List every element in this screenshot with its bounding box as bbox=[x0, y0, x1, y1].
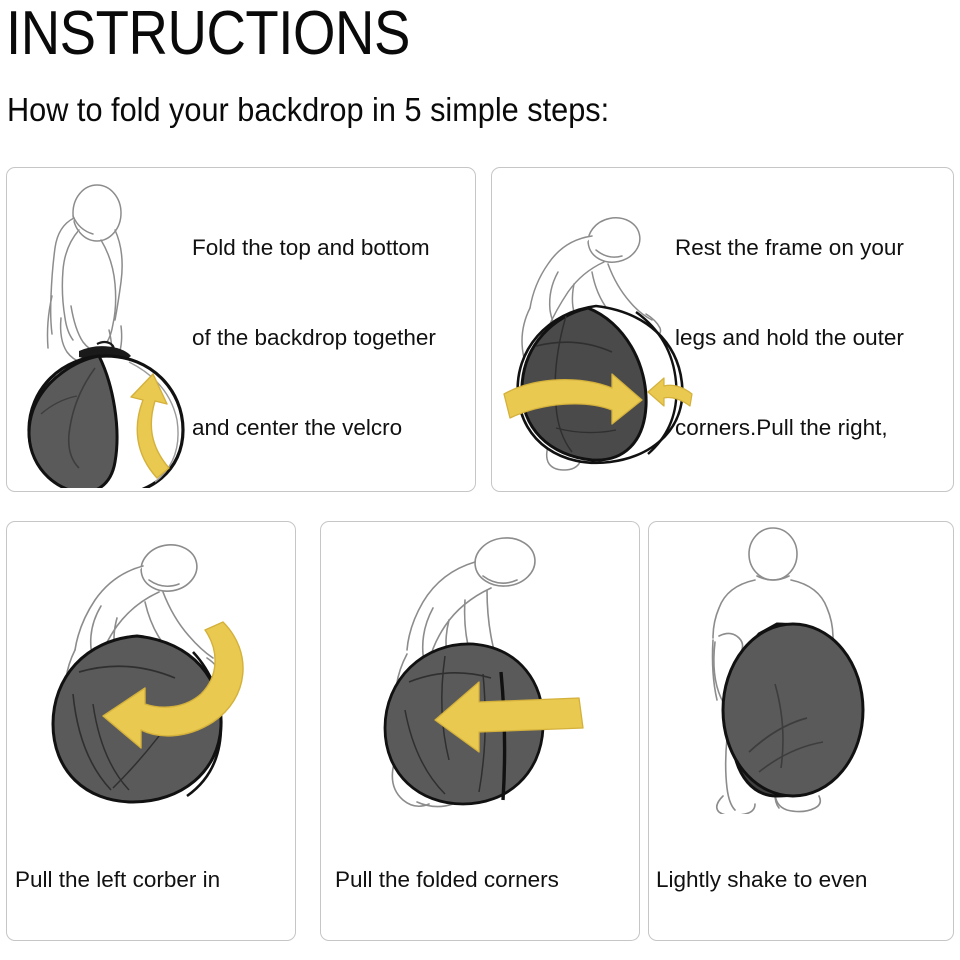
step-5-illustration bbox=[657, 524, 942, 814]
step-3-line-1: Pull the left corber in bbox=[15, 857, 296, 902]
step-2-text: Rest the frame on your legs and hold the… bbox=[675, 180, 954, 492]
step-1-line-3: and center the velcro bbox=[192, 405, 476, 450]
step-4-illustration bbox=[333, 524, 629, 816]
step-2-line-3: corners.Pull the right, bbox=[675, 405, 954, 450]
step-1-line-1: Fold the top and bottom bbox=[192, 225, 476, 270]
folded-disc bbox=[723, 624, 863, 796]
step-panel-5: Lightly shake to even the frame before s… bbox=[648, 521, 954, 941]
step-1-illustration bbox=[11, 178, 201, 488]
step-1-line-2: of the backdrop together bbox=[192, 315, 476, 360]
step-4-text: Pull the folded corners toward you and p… bbox=[335, 812, 640, 941]
step-2-line-1: Rest the frame on your bbox=[675, 225, 954, 270]
page-title: INSTRUCTIONS bbox=[6, 2, 410, 66]
step-1-text: Fold the top and bottom of the backdrop … bbox=[192, 180, 476, 492]
step-4-line-1: Pull the folded corners bbox=[335, 857, 640, 902]
step-5-line-1: Lightly shake to even bbox=[656, 857, 954, 902]
step-3-text: Pull the left corber in and over the rig… bbox=[15, 812, 296, 941]
page-subtitle: How to fold your backdrop in 5 simple st… bbox=[7, 92, 609, 128]
step-2-illustration bbox=[496, 188, 696, 488]
step-panel-4: Pull the folded corners toward you and p… bbox=[320, 521, 640, 941]
step-panel-2: Rest the frame on your legs and hold the… bbox=[491, 167, 954, 492]
instruction-sheet: INSTRUCTIONS How to fold your backdrop i… bbox=[0, 0, 960, 960]
step-panel-3: Pull the left corber in and over the rig… bbox=[6, 521, 296, 941]
step-3-illustration bbox=[17, 526, 287, 816]
step-5-text: Lightly shake to even the frame before s… bbox=[656, 812, 954, 941]
step-2-line-2: legs and hold the outer bbox=[675, 315, 954, 360]
step-panel-1: Fold the top and bottom of the backdrop … bbox=[6, 167, 476, 492]
